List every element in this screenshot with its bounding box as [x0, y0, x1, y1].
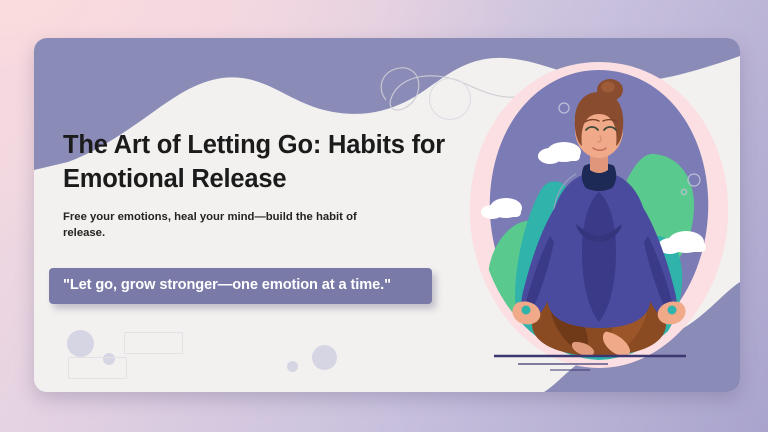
meditation-illustration: [458, 56, 740, 392]
quote-banner: "Let go, grow stronger—one emotion at a …: [49, 268, 432, 304]
slide-card: The Art of Letting Go: Habits for Emotio…: [34, 38, 740, 392]
deco-rect-upper: [124, 332, 183, 354]
deco-rect-lower: [68, 357, 127, 379]
page-subtitle: Free your emotions, heal your mind—build…: [63, 209, 393, 242]
slide-canvas: The Art of Letting Go: Habits for Emotio…: [0, 0, 768, 432]
deco-circle-small-left: [103, 353, 115, 365]
deco-circle-large-left: [67, 330, 94, 357]
deco-circle-large-right: [312, 345, 337, 370]
quote-text: "Let go, grow stronger—one emotion at a …: [63, 276, 418, 295]
deco-circle-small-right: [287, 361, 298, 372]
page-title: The Art of Letting Go: Habits for Emotio…: [63, 129, 458, 196]
